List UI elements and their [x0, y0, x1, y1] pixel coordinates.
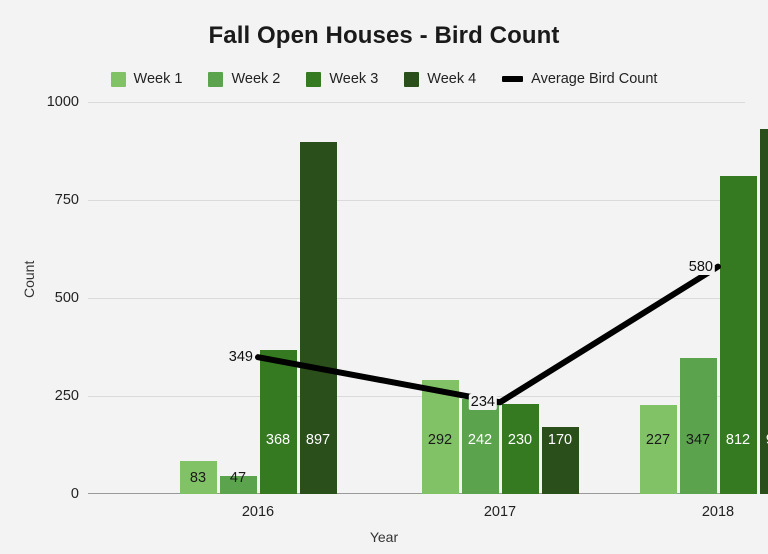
legend-item[interactable]: Week 1	[111, 71, 183, 87]
bar[interactable]: 347	[680, 358, 717, 494]
bar-value-label: 47	[220, 470, 257, 486]
x-axis-tick-label: 2016	[242, 504, 274, 520]
bar-value-label: 812	[720, 432, 757, 448]
bird-count-chart: Fall Open Houses - Bird Count Week 1Week…	[0, 0, 768, 554]
x-axis-tick-label: 2018	[702, 504, 734, 520]
bar-value-label: 932	[760, 432, 768, 448]
bar[interactable]: 897	[300, 142, 337, 494]
bar[interactable]: 932	[760, 129, 768, 494]
y-axis-tick-label: 500	[55, 290, 79, 306]
bar[interactable]: 83	[180, 461, 217, 494]
legend-item-label: Week 1	[134, 71, 183, 87]
bar[interactable]: 812	[720, 176, 757, 494]
y-axis-tick-label: 1000	[47, 94, 79, 110]
x-axis-title: Year	[0, 529, 768, 545]
legend-color-swatch-icon	[208, 72, 223, 87]
bar[interactable]: 242	[462, 399, 499, 494]
legend-item-label: Week 4	[427, 71, 476, 87]
bar[interactable]: 227	[640, 405, 677, 494]
bar-value-label: 368	[260, 432, 297, 448]
y-axis-tick-label: 750	[55, 192, 79, 208]
bar[interactable]: 230	[502, 404, 539, 494]
legend-item-label: Average Bird Count	[531, 71, 657, 87]
line-value-label: 234	[469, 394, 497, 410]
bar-value-label: 227	[640, 432, 677, 448]
bar[interactable]: 368	[260, 350, 297, 494]
y-axis-tick-label: 0	[71, 486, 79, 502]
bar-value-label: 897	[300, 432, 337, 448]
legend-color-swatch-icon	[111, 72, 126, 87]
y-axis-tick-label: 250	[55, 388, 79, 404]
gridline	[88, 102, 745, 103]
gridline	[88, 396, 745, 397]
bar-value-label: 292	[422, 432, 459, 448]
legend-color-swatch-icon	[404, 72, 419, 87]
plot-area: 0250500750100083473688972922422301702273…	[88, 102, 745, 494]
line-value-label: 349	[227, 349, 255, 365]
legend-item-label: Week 2	[231, 71, 280, 87]
y-axis-title: Count	[21, 261, 37, 298]
legend-item-label: Week 3	[329, 71, 378, 87]
legend-item[interactable]: Week 2	[208, 71, 280, 87]
gridline	[88, 200, 745, 201]
bar-value-label: 347	[680, 432, 717, 448]
bar[interactable]: 292	[422, 380, 459, 494]
legend-item[interactable]: Average Bird Count	[502, 71, 657, 87]
x-axis-tick-label: 2017	[484, 504, 516, 520]
legend-item[interactable]: Week 3	[306, 71, 378, 87]
bar-value-label: 230	[502, 432, 539, 448]
gridline	[88, 298, 745, 299]
chart-title: Fall Open Houses - Bird Count	[0, 22, 768, 50]
bar[interactable]: 170	[542, 427, 579, 494]
legend-line-swatch-icon	[502, 76, 523, 82]
bar-value-label: 242	[462, 432, 499, 448]
line-value-label: 580	[687, 259, 715, 275]
bar-value-label: 83	[180, 470, 217, 486]
legend-item[interactable]: Week 4	[404, 71, 476, 87]
bar-value-label: 170	[542, 432, 579, 448]
legend-color-swatch-icon	[306, 72, 321, 87]
bar[interactable]: 47	[220, 476, 257, 494]
chart-legend: Week 1Week 2Week 3Week 4Average Bird Cou…	[0, 71, 768, 87]
